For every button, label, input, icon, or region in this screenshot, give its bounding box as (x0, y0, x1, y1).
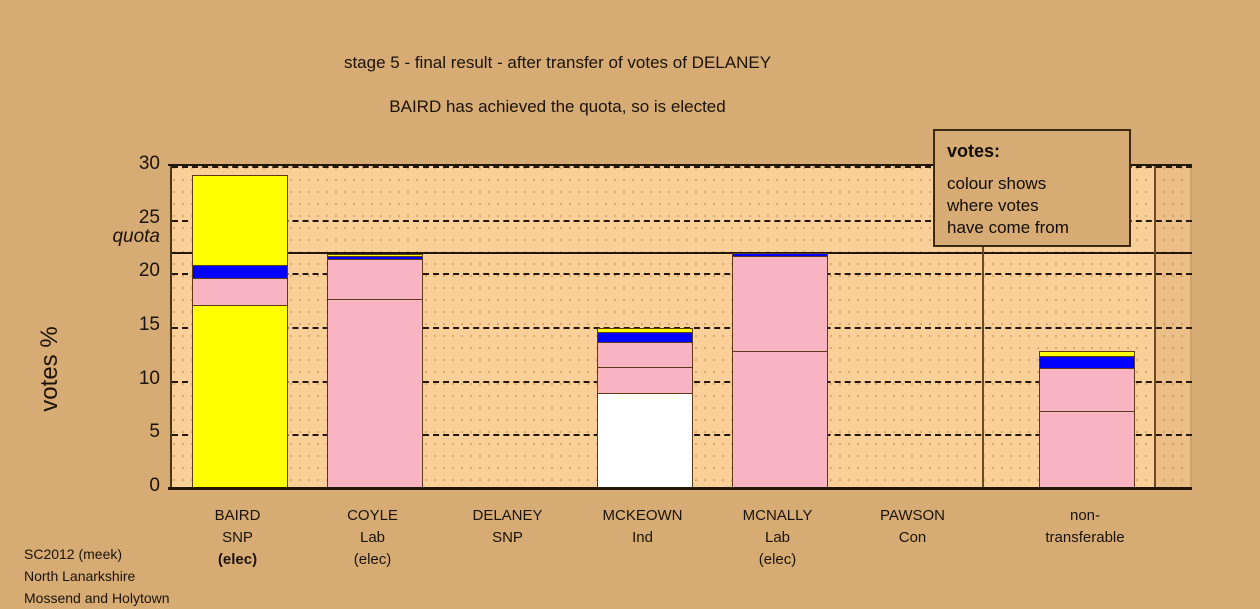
y-tick-15: 15 (70, 314, 160, 336)
y-tick-0: 0 (70, 475, 160, 497)
footer-line-3: Mossend and Holytown (24, 587, 170, 609)
legend-line-3: have come from (947, 217, 1117, 239)
x-label-name: COYLE (305, 505, 440, 527)
bar-segment-yellow (597, 328, 693, 334)
x-label-non-transferable: non-transferable (980, 505, 1190, 549)
x-label-name: PAWSON (845, 505, 980, 527)
bar-mckeown[interactable] (597, 166, 693, 488)
x-label-name: MCKEOWN (575, 505, 710, 527)
x-label-party: Lab (710, 527, 845, 549)
y-axis-title: votes % (36, 289, 64, 449)
x-label-party: SNP (170, 527, 305, 549)
bar-coyle[interactable] (327, 166, 423, 488)
quota-axis-label: quota (52, 226, 160, 248)
y-tick-30: 30 (70, 153, 160, 175)
x-label-party: Ind (575, 527, 710, 549)
bar-segment-yellow (192, 304, 288, 488)
bar-segment-pink (1039, 367, 1135, 411)
x-label-status: (elec) (305, 549, 440, 571)
bar-segment-yellow (1039, 351, 1135, 357)
bar-segment-pink (327, 259, 423, 300)
x-label-baird: BAIRDSNP(elec) (170, 505, 305, 571)
bar-baird[interactable] (192, 166, 288, 488)
legend-line-1: colour shows (947, 173, 1117, 195)
bar-segment-blue (192, 264, 288, 278)
x-label-mcnally: MCNALLYLab(elec) (710, 505, 845, 571)
bar-segment-pink (192, 277, 288, 305)
bar-segment-pink (327, 299, 423, 488)
legend-title: votes: (947, 141, 1117, 162)
bar-segment-blue (1039, 356, 1135, 369)
axis-baseline (168, 487, 1192, 490)
legend-box: votes: colour shows where votes have com… (933, 129, 1131, 247)
x-label-status: (elec) (710, 549, 845, 571)
bar-segment-pink (597, 366, 693, 393)
bar-segment-blue (597, 332, 693, 343)
bar-segment-pink (1039, 410, 1135, 488)
legend-line-2: where votes (947, 195, 1117, 217)
x-label-pawson: PAWSONCon (845, 505, 980, 549)
category-separator-1 (1154, 166, 1156, 488)
x-label-name: MCNALLY (710, 505, 845, 527)
chart-title-block: stage 5 - final result - after transfer … (0, 52, 1115, 118)
footer-line-1: SC2012 (meek) (24, 543, 170, 565)
bar-segment-blue (732, 253, 828, 258)
bar-segment-white (597, 392, 693, 488)
x-label-name-2: transferable (980, 527, 1190, 549)
footer-line-2: North Lanarkshire (24, 565, 170, 587)
bar-segment-yellow (327, 254, 423, 258)
x-label-name: non- (980, 505, 1190, 527)
y-tick-20: 20 (70, 260, 160, 282)
x-label-party: Lab (305, 527, 440, 549)
x-label-status: (elec) (170, 549, 305, 571)
bar-segment-pink (597, 342, 693, 368)
x-label-name: BAIRD (170, 505, 305, 527)
x-label-party: Con (845, 527, 980, 549)
x-label-mckeown: MCKEOWNInd (575, 505, 710, 549)
bar-mcnally[interactable] (732, 166, 828, 488)
footer-credit: SC2012 (meek) North Lanarkshire Mossend … (24, 543, 170, 609)
y-tick-5: 5 (70, 421, 160, 443)
x-label-coyle: COYLELab(elec) (305, 505, 440, 571)
bar-segment-pink (732, 350, 828, 488)
x-label-delaney: DELANEYSNP (440, 505, 575, 549)
y-tick-10: 10 (70, 368, 160, 390)
chart-subtitle: BAIRD has achieved the quota, so is elec… (0, 96, 1115, 118)
x-label-name: DELANEY (440, 505, 575, 527)
bar-segment-pink (732, 256, 828, 352)
chart-title: stage 5 - final result - after transfer … (0, 52, 1115, 74)
bar-segment-yellow (192, 175, 288, 266)
x-label-party: SNP (440, 527, 575, 549)
